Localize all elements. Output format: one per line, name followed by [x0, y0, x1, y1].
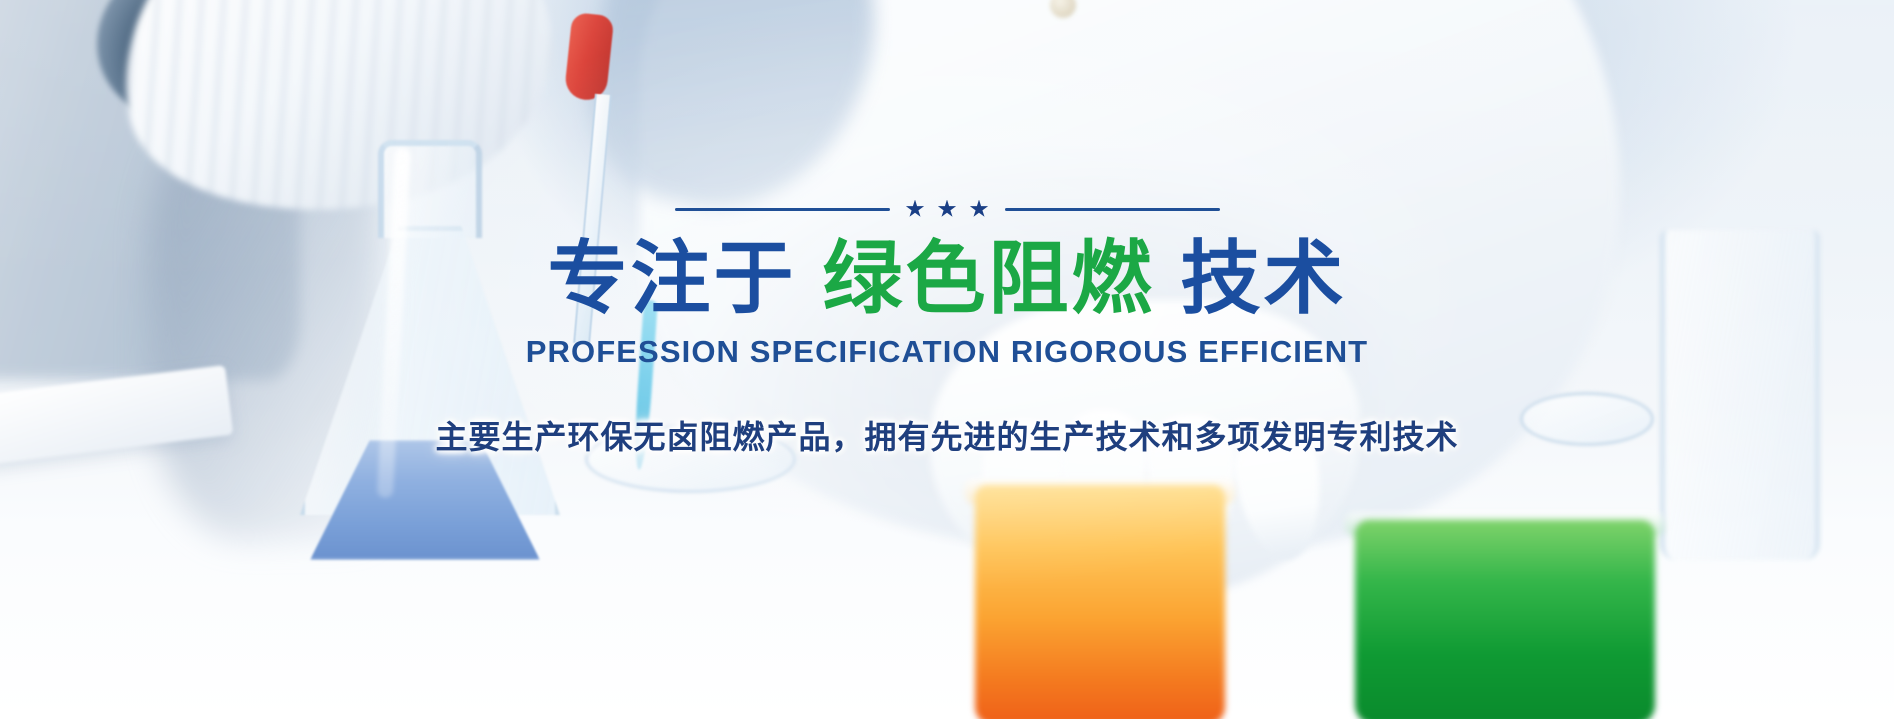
headline-part-1: 专注于: [548, 234, 797, 323]
subtitle: PROFESSION SPECIFICATION RIGOROUS EFFICI…: [0, 334, 1894, 370]
star-icon: [938, 200, 957, 219]
headline-part-2: 绿色阻燃: [823, 234, 1155, 323]
tagline: 主要生产环保无卤阻燃产品，拥有先进的生产技术和多项发明专利技术: [0, 412, 1894, 458]
decorative-divider: [0, 196, 1894, 222]
headline-part-3: 技术: [1181, 234, 1347, 323]
star-icon: [906, 200, 925, 219]
star-group: [906, 200, 989, 219]
beaker-orange: [975, 485, 1225, 719]
banner-content: 专注于绿色阻燃技术 PROFESSION SPECIFICATION RIGOR…: [0, 196, 1894, 458]
divider-rule-left: [675, 208, 890, 211]
pipette-bulb: [564, 12, 615, 102]
divider-rule-right: [1005, 208, 1220, 211]
headline: 专注于绿色阻燃技术: [0, 236, 1894, 322]
star-icon: [970, 200, 989, 219]
beaker-green: [1355, 520, 1655, 719]
hero-banner: 专注于绿色阻燃技术 PROFESSION SPECIFICATION RIGOR…: [0, 0, 1894, 719]
